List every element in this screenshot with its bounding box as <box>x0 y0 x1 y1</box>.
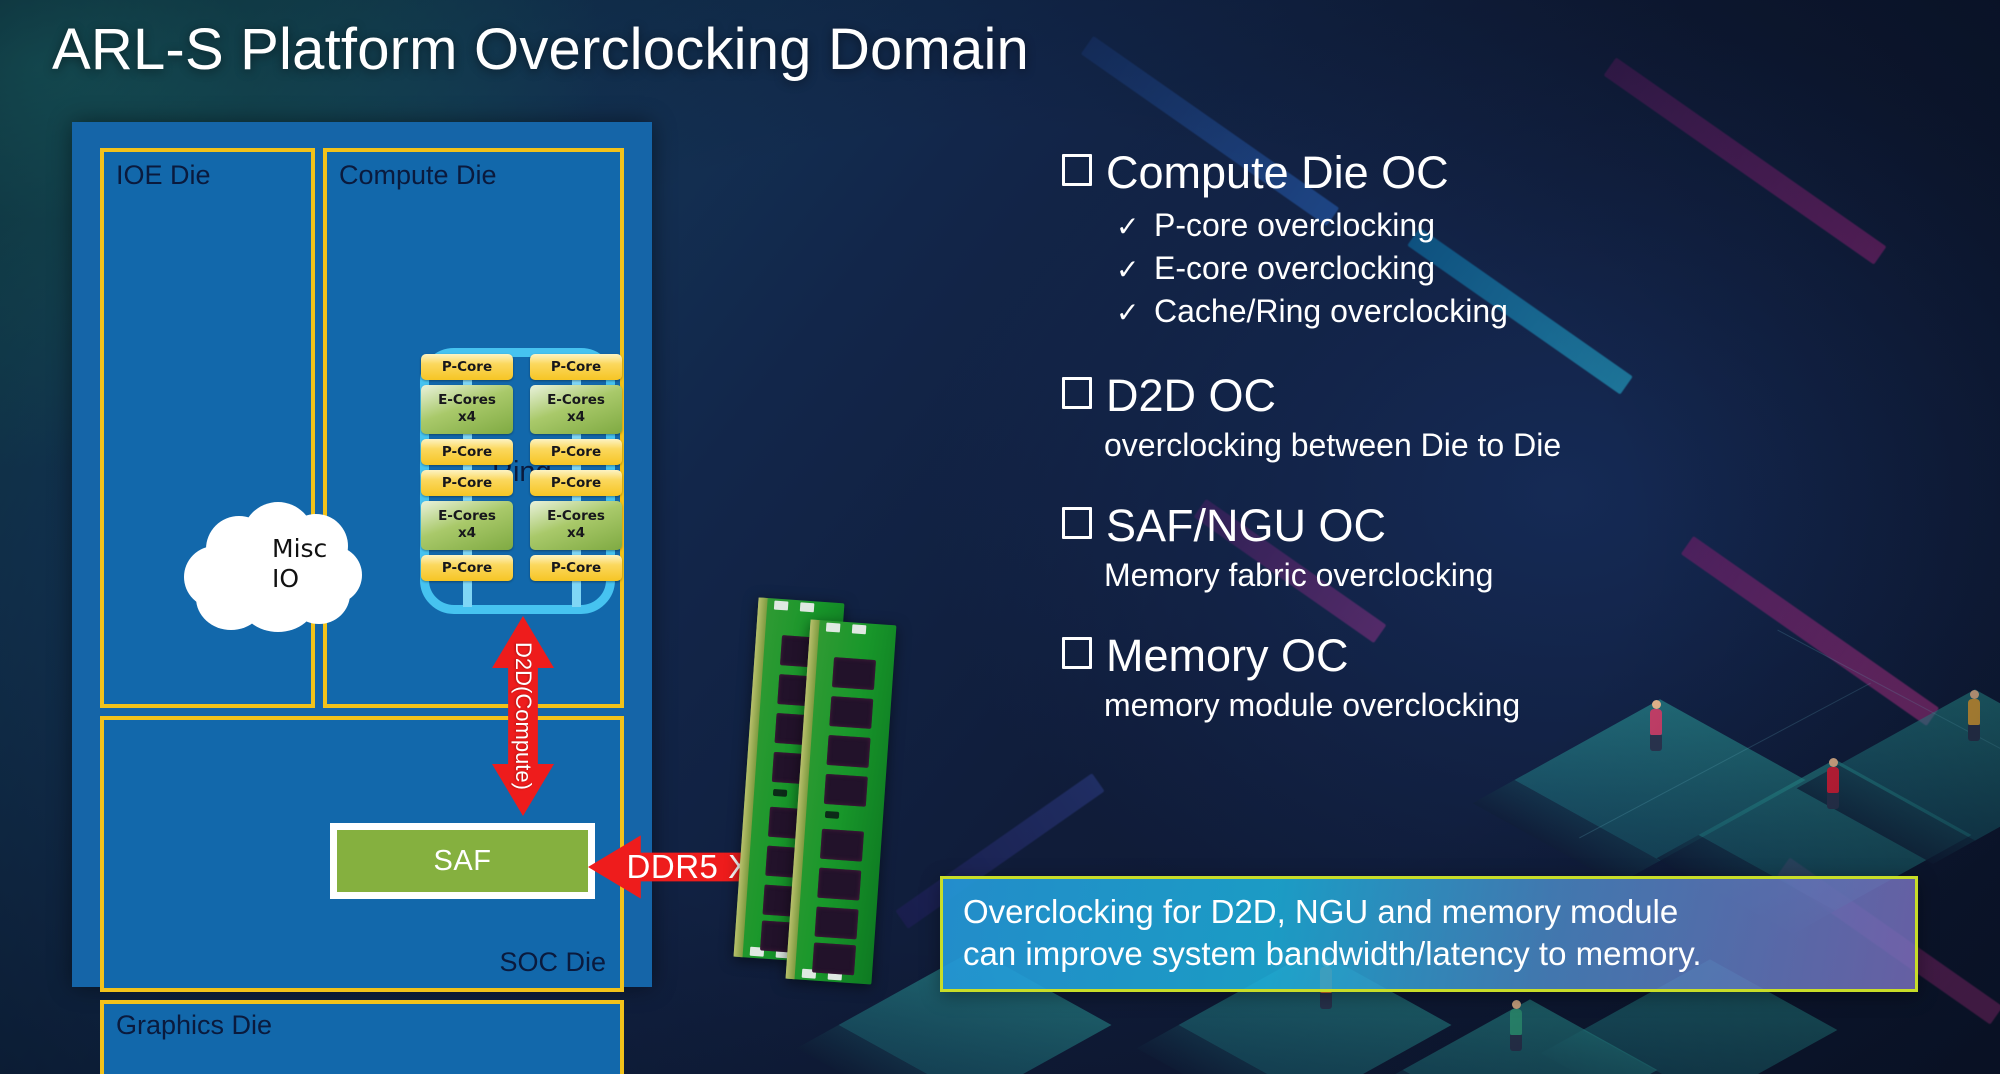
hollow-square-icon <box>1062 507 1092 539</box>
bullet-heading-3: Memory OC <box>1062 631 1942 681</box>
bullet-subitem-0-2: ✓Cache/Ring overclocking <box>1116 290 1942 333</box>
ioe-die-label: IOE Die <box>116 160 211 191</box>
compute-die-label: Compute Die <box>339 160 497 191</box>
saf-block: SAF <box>330 823 595 899</box>
bullet-spacer <box>1062 727 1942 757</box>
e-core-box-right-1: E-Coresx4 <box>530 385 622 434</box>
core-column-left: P-CoreE-Coresx4P-CoreP-CoreE-Coresx4P-Co… <box>421 354 513 581</box>
bullet-subitem-text-0-2: Cache/Ring overclocking <box>1154 290 1508 333</box>
bullet-heading-text-1: D2D OC <box>1106 371 1276 421</box>
bullet-block-2: SAF/NGU OCMemory fabric overclocking <box>1062 501 1942 627</box>
p-core-box-left-5: P-Core <box>421 555 513 581</box>
saf-label: SAF <box>337 830 588 892</box>
graphics-die-label: Graphics Die <box>116 1010 272 1041</box>
d2d-arrow-label: D2D(Compute) <box>510 642 536 790</box>
p-core-box-right-2: P-Core <box>530 439 622 465</box>
bullet-subitems-0: ✓P-core overclocking✓E-core overclocking… <box>1116 204 1942 333</box>
bullet-heading-text-2: SAF/NGU OC <box>1106 501 1386 551</box>
e-core-box-left-4: E-Coresx4 <box>421 501 513 550</box>
bullet-note-1: overclocking between Die to Die <box>1104 425 1942 467</box>
bullet-list: Compute Die OC✓P-core overclocking✓E-cor… <box>1062 148 1942 761</box>
p-core-box-left-2: P-Core <box>421 439 513 465</box>
check-icon: ✓ <box>1116 251 1136 289</box>
p-core-box-left-3: P-Core <box>421 470 513 496</box>
core-column-right: P-CoreE-Coresx4P-CoreP-CoreE-Coresx4P-Co… <box>530 354 622 581</box>
bullet-spacer <box>1062 467 1942 497</box>
slide-canvas: ARL-S Platform Overclocking Domain IOE D… <box>0 0 2000 1074</box>
bullet-subitem-0-1: ✓E-core overclocking <box>1116 247 1942 290</box>
bullet-block-0: Compute Die OC✓P-core overclocking✓E-cor… <box>1062 148 1942 367</box>
d2d-arrow: D2D(Compute) <box>492 616 554 816</box>
bullet-subitem-0-0: ✓P-core overclocking <box>1116 204 1942 247</box>
p-core-box-right-0: P-Core <box>530 354 622 380</box>
bullet-heading-1: D2D OC <box>1062 371 1942 421</box>
bullet-spacer <box>1062 333 1942 367</box>
hollow-square-icon <box>1062 154 1092 186</box>
page-title: ARL-S Platform Overclocking Domain <box>52 16 1029 83</box>
check-icon: ✓ <box>1116 294 1136 332</box>
bullet-heading-text-0: Compute Die OC <box>1106 148 1449 198</box>
bullet-block-3: Memory OCmemory module overclocking <box>1062 631 1942 757</box>
hollow-square-icon <box>1062 377 1092 409</box>
misc-io-line1: Misc <box>272 534 327 564</box>
bullet-heading-2: SAF/NGU OC <box>1062 501 1942 551</box>
bullet-block-1: D2D OCoverclocking between Die to Die <box>1062 371 1942 497</box>
bullet-heading-0: Compute Die OC <box>1062 148 1942 198</box>
check-icon: ✓ <box>1116 208 1136 246</box>
misc-io-label: Misc IO <box>180 534 364 564</box>
graphics-die-block: Graphics Die <box>100 1000 624 1074</box>
bullet-note-2: Memory fabric overclocking <box>1104 555 1942 597</box>
e-core-box-left-1: E-Coresx4 <box>421 385 513 434</box>
e-core-box-right-4: E-Coresx4 <box>530 501 622 550</box>
callout-line-2: can improve system bandwidth/latency to … <box>963 933 1895 975</box>
misc-io-cloud: Misc IO <box>180 500 364 634</box>
p-core-box-left-0: P-Core <box>421 354 513 380</box>
soc-die-label: SOC Die <box>499 947 606 978</box>
bullet-note-3: memory module overclocking <box>1104 685 1942 727</box>
misc-io-line2: IO <box>272 564 299 594</box>
bullet-subitem-text-0-0: P-core overclocking <box>1154 204 1435 247</box>
bullet-spacer <box>1062 597 1942 627</box>
p-core-box-right-5: P-Core <box>530 555 622 581</box>
callout-line-1: Overclocking for D2D, NGU and memory mod… <box>963 891 1895 933</box>
hollow-square-icon <box>1062 637 1092 669</box>
package-diagram: IOE Die Compute Die SOC Die Graphics Die… <box>72 122 652 987</box>
bullet-heading-text-3: Memory OC <box>1106 631 1349 681</box>
bullet-subitem-text-0-1: E-core overclocking <box>1154 247 1435 290</box>
callout-box: Overclocking for D2D, NGU and memory mod… <box>940 876 1918 992</box>
p-core-box-right-3: P-Core <box>530 470 622 496</box>
